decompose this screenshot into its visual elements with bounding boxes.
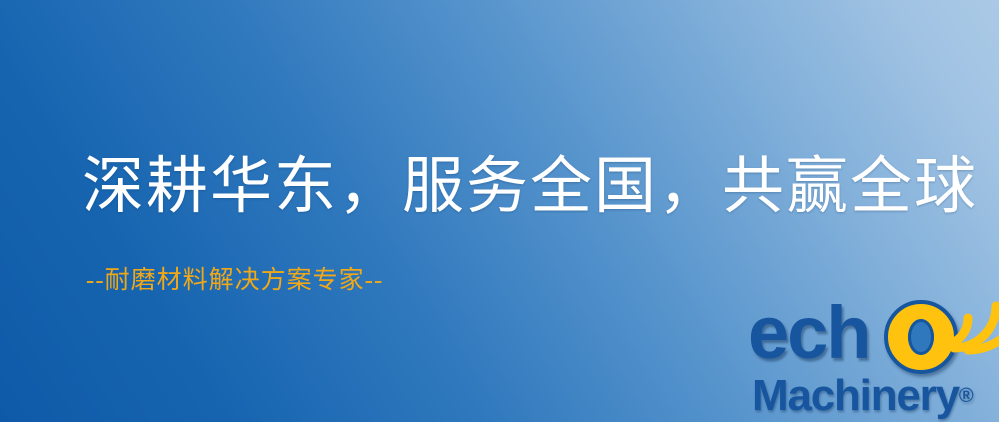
signal-waves-icon: [928, 286, 999, 366]
registered-trademark-icon: ®: [959, 385, 974, 407]
logo-wordmark-ech: ech: [748, 292, 870, 374]
logo-sub-name: Machinery®: [752, 372, 974, 420]
company-logo[interactable]: ech Machinery®: [742, 292, 999, 422]
logo-sub-text: Machinery: [752, 371, 959, 420]
banner-headline: 深耕华东，服务全国，共赢全球: [82, 152, 978, 222]
banner-subtitle: --耐磨材料解决方案专家--: [86, 266, 383, 296]
hero-banner: 深耕华东，服务全国，共赢全球 --耐磨材料解决方案专家-- ech Machin…: [0, 0, 999, 422]
